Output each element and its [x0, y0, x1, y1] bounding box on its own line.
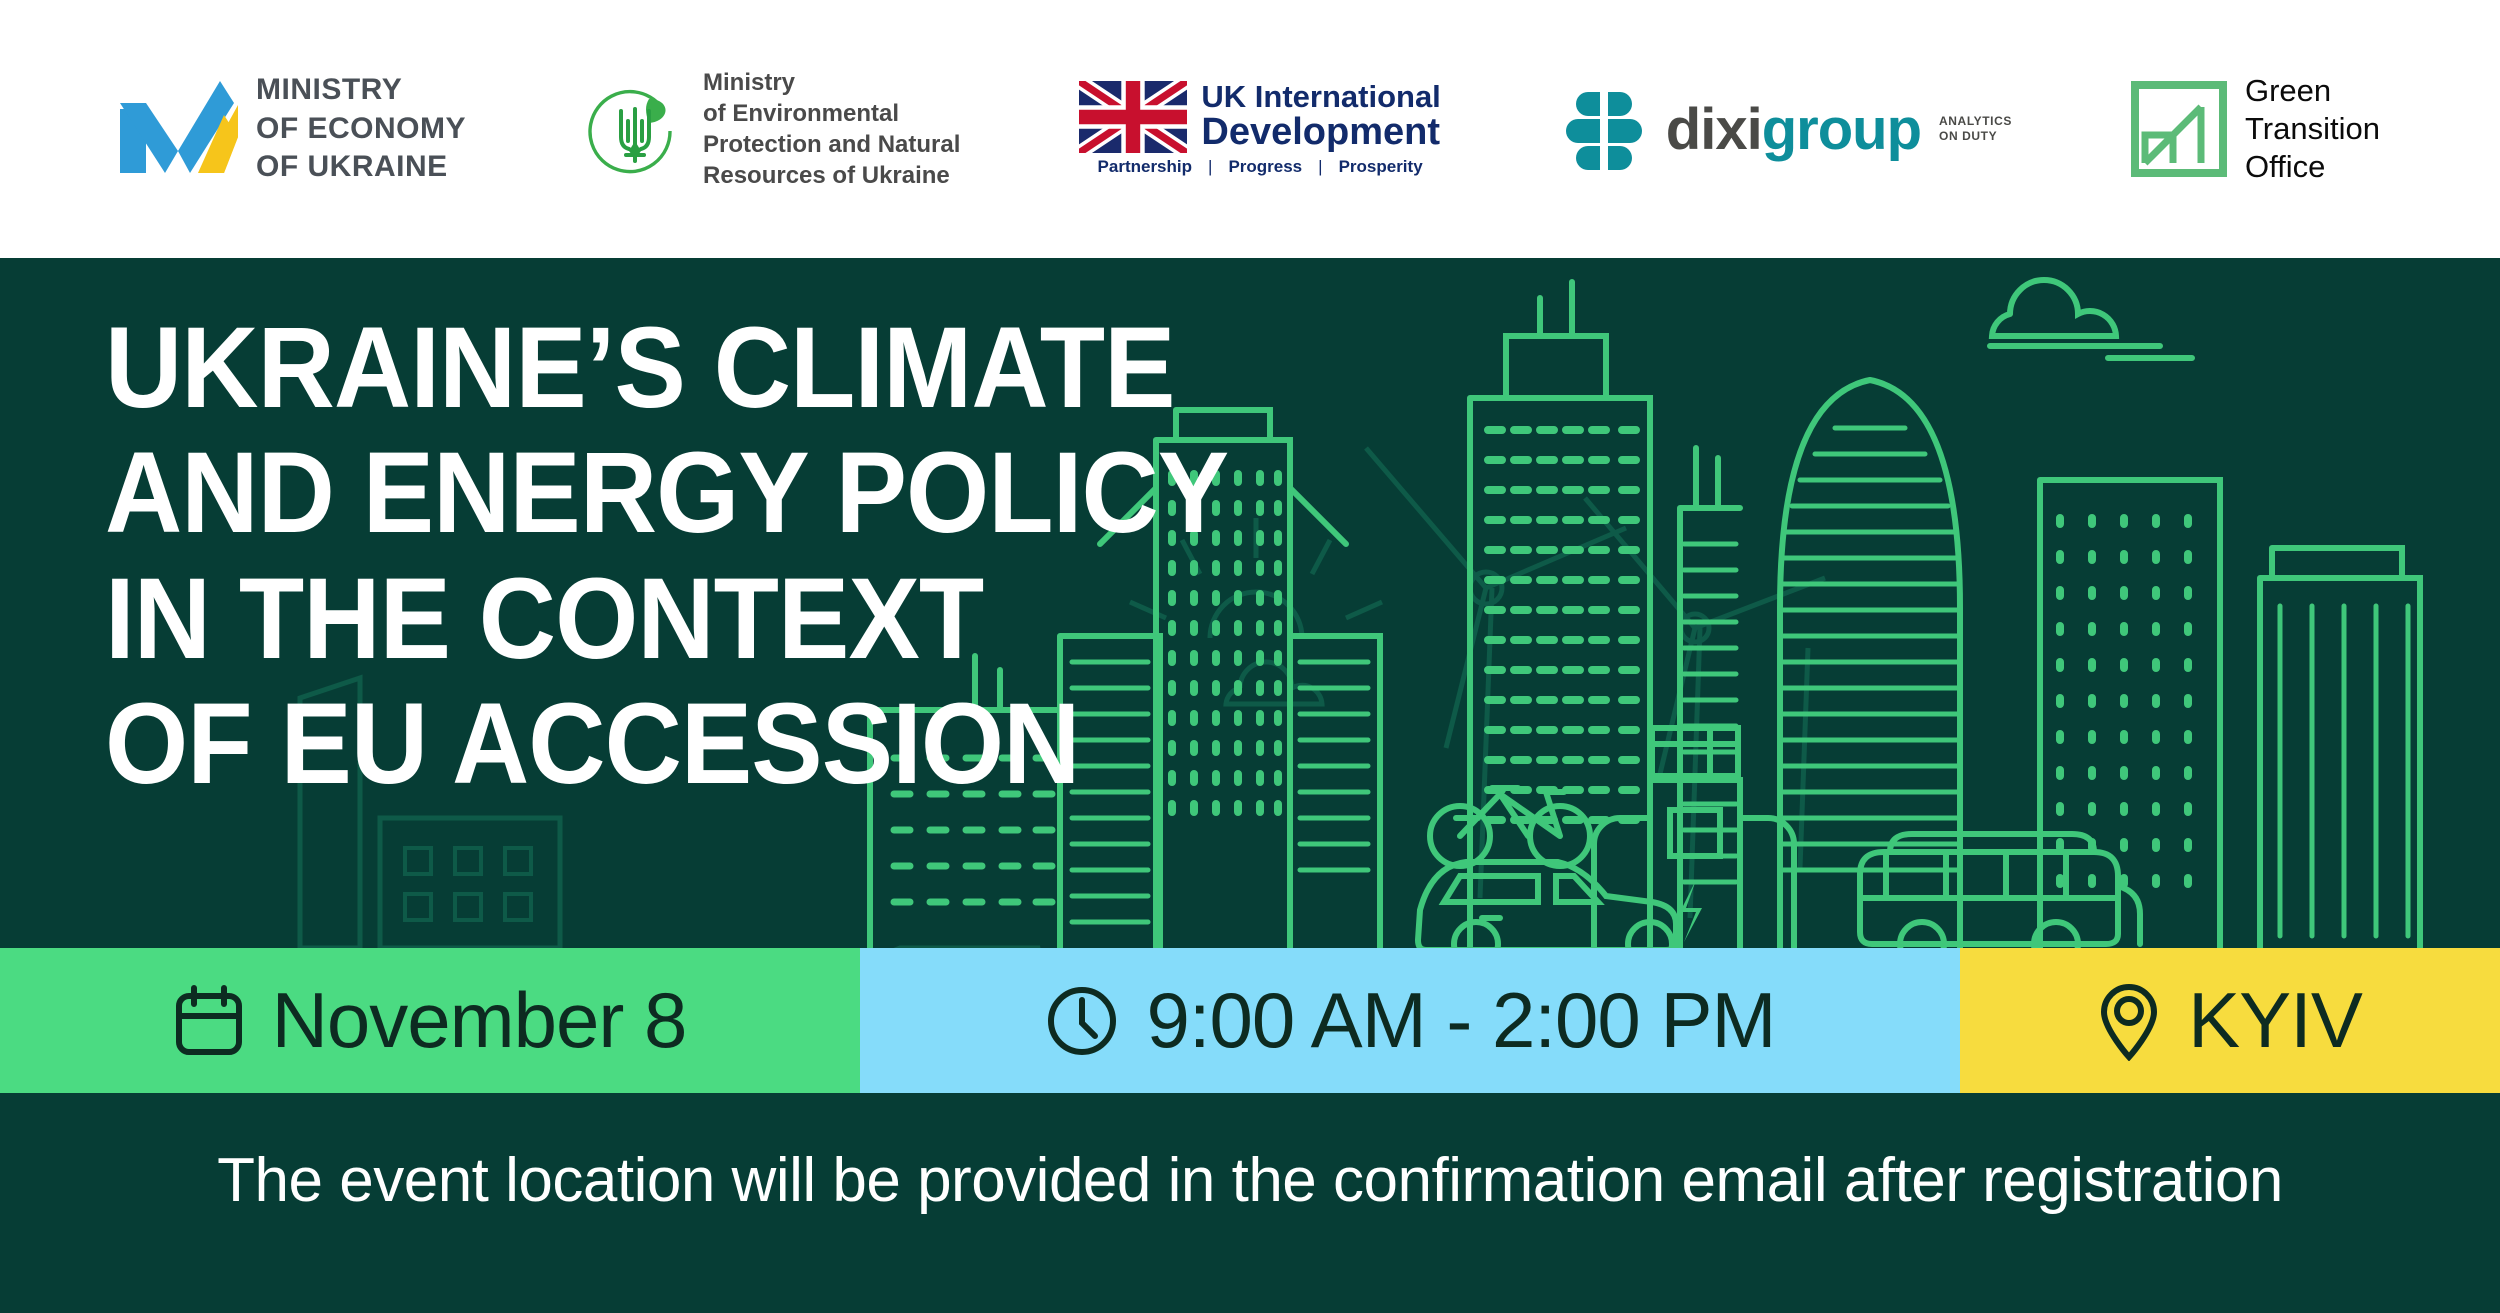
event-location-cell: KYIV: [1960, 948, 2500, 1093]
event-location-value: KYIV: [2188, 975, 2362, 1066]
logo-dixigroup: dixigroup ANALYTICS ON DUTY: [1560, 88, 2012, 170]
page-title: UKRAINE’S CLIMATE AND ENERGY POLICY IN T…: [105, 310, 1228, 811]
clock-icon: [1045, 984, 1119, 1058]
logo-green-transition-office-text: Green Transition Office: [2245, 72, 2380, 185]
headline-line-2: AND ENERGY POLICY: [105, 435, 1228, 552]
uk-tagline-sep-1: |: [1208, 157, 1212, 177]
logo-green-transition-office: Green Transition Office: [2131, 72, 2380, 185]
union-jack-flag-icon: [1079, 81, 1187, 153]
uk-tagline-1: Partnership: [1098, 157, 1192, 177]
gto-line-2: Transition: [2245, 110, 2380, 148]
dixi-word-a: dixi: [1666, 97, 1762, 162]
event-date-cell: November 8: [0, 948, 860, 1093]
headline-line-4: OF EU ACCESSION: [105, 686, 1228, 803]
env-line-3: Protection and Natural: [703, 129, 960, 160]
moe-line-3: OF UKRAINE: [256, 148, 466, 186]
logo-ministry-of-economy-text: MINISTRY OF ECONOMY OF UKRAINE: [256, 71, 466, 186]
logo-ministry-environment-text: Ministry of Environmental Protection and…: [703, 67, 960, 192]
uk-title-line-2: Development: [1201, 113, 1440, 153]
green-square-chart-icon: [2131, 81, 2227, 177]
uk-tagline: Partnership | Progress | Prosperity: [1098, 157, 1423, 177]
uk-tagline-2: Progress: [1228, 157, 1302, 177]
hero-section: UKRAINE’S CLIMATE AND ENERGY POLICY IN T…: [0, 258, 2500, 948]
footer-note: The event location will be provided in t…: [217, 1145, 2283, 1216]
gto-line-3: Office: [2245, 148, 2380, 186]
env-line-1: Ministry: [703, 67, 960, 98]
partner-logo-bar: MINISTRY OF ECONOMY OF UKRAINE: [0, 0, 2500, 258]
headline-line-1: UKRAINE’S CLIMATE: [105, 310, 1228, 427]
env-line-4: Resources of Ukraine: [703, 160, 960, 191]
dixigroup-tagline: ANALYTICS ON DUTY: [1939, 114, 2012, 144]
dixi-tagline-1: ANALYTICS: [1939, 114, 2012, 129]
dixigroup-wordmark: dixigroup: [1666, 96, 1921, 163]
uk-title: UK International Development: [1201, 81, 1440, 153]
event-info-bar: November 8 9:00 AM - 2:00 PM KYIV: [0, 948, 2500, 1093]
footer-note-bar: The event location will be provided in t…: [0, 1093, 2500, 1313]
moe-line-2: OF ECONOMY: [256, 110, 466, 148]
dixi-word-b: group: [1762, 97, 1921, 162]
calendar-icon: [174, 984, 244, 1058]
location-pin-icon: [2098, 981, 2160, 1061]
logo-ministry-of-economy: MINISTRY OF ECONOMY OF UKRAINE: [120, 71, 466, 186]
env-line-2: of Environmental: [703, 98, 960, 129]
gto-line-1: Green: [2245, 72, 2380, 110]
trident-leaf-circle-icon: [585, 79, 685, 179]
event-time-cell: 9:00 AM - 2:00 PM: [860, 948, 1960, 1093]
event-date-value: November 8: [272, 975, 687, 1066]
m-checkmark-icon: [120, 81, 238, 177]
moe-line-1: MINISTRY: [256, 71, 466, 109]
dixi-brain-icon: [1560, 88, 1648, 170]
uk-tagline-3: Prosperity: [1339, 157, 1423, 177]
logo-ministry-environment: Ministry of Environmental Protection and…: [585, 67, 960, 192]
headline-line-3: IN THE CONTEXT: [105, 561, 1228, 678]
event-time-value: 9:00 AM - 2:00 PM: [1147, 975, 1776, 1066]
event-banner: MINISTRY OF ECONOMY OF UKRAINE: [0, 0, 2500, 1313]
uk-title-line-1: UK International: [1201, 81, 1440, 114]
uk-tagline-sep-2: |: [1318, 157, 1322, 177]
dixi-tagline-2: ON DUTY: [1939, 129, 2012, 144]
logo-uk-international-development: UK International Development Partnership…: [1079, 81, 1440, 177]
